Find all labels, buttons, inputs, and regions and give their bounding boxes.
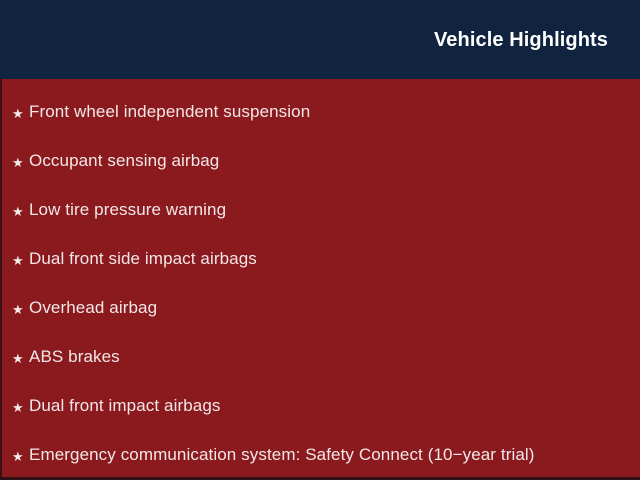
- list-item: ★ Occupant sensing airbag: [0, 137, 640, 186]
- list-item: ★ ABS brakes: [0, 333, 640, 382]
- list-item: ★ Front wheel independent suspension: [0, 88, 640, 137]
- slide-left-edge: [0, 79, 2, 480]
- list-item: ★ Emergency communication system: Safety…: [0, 431, 640, 480]
- star-bullet-icon: ★: [12, 450, 29, 463]
- star-bullet-icon: ★: [12, 254, 29, 267]
- list-item-label: ABS brakes: [29, 348, 120, 367]
- list-item-label: Occupant sensing airbag: [29, 152, 219, 171]
- list-item-label: Dual front impact airbags: [29, 397, 220, 416]
- star-bullet-icon: ★: [12, 352, 29, 365]
- list-item-label: Overhead airbag: [29, 299, 157, 318]
- vehicle-highlights-slide: Vehicle Highlights ★ Front wheel indepen…: [0, 0, 640, 480]
- star-bullet-icon: ★: [12, 107, 29, 120]
- vehicle-highlights-list: ★ Front wheel independent suspension ★ O…: [0, 88, 640, 480]
- list-item-label: Front wheel independent suspension: [29, 103, 310, 122]
- star-bullet-icon: ★: [12, 303, 29, 316]
- slide-header: Vehicle Highlights: [0, 0, 640, 79]
- star-bullet-icon: ★: [12, 401, 29, 414]
- star-bullet-icon: ★: [12, 156, 29, 169]
- star-bullet-icon: ★: [12, 205, 29, 218]
- list-item-label: Emergency communication system: Safety C…: [29, 446, 535, 465]
- list-item: ★ Low tire pressure warning: [0, 186, 640, 235]
- list-item: ★ Overhead airbag: [0, 284, 640, 333]
- list-item: ★ Dual front side impact airbags: [0, 235, 640, 284]
- list-item-label: Low tire pressure warning: [29, 201, 226, 220]
- slide-body: ★ Front wheel independent suspension ★ O…: [0, 79, 640, 480]
- page-title: Vehicle Highlights: [434, 30, 608, 50]
- list-item-label: Dual front side impact airbags: [29, 250, 257, 269]
- list-item: ★ Dual front impact airbags: [0, 382, 640, 431]
